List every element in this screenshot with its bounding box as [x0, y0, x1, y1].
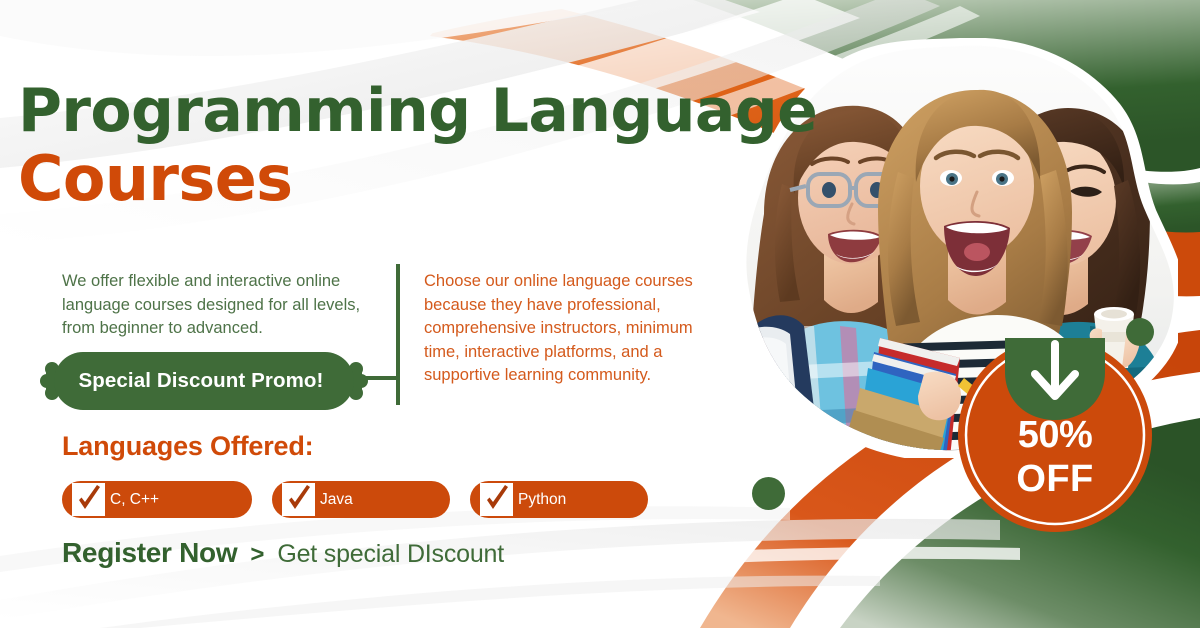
language-chip-label: Python	[518, 491, 566, 509]
description-right: Choose our online language courses becau…	[424, 270, 724, 388]
languages-offered-heading: Languages Offered:	[62, 431, 313, 462]
check-icon	[282, 483, 315, 516]
check-icon	[72, 483, 105, 516]
headline-line-1: Programming Language	[18, 82, 817, 141]
chevron-right-icon: >	[250, 541, 264, 569]
promo-badge-label: Special Discount Promo!	[38, 352, 370, 410]
description-left: We offer flexible and interactive online…	[62, 270, 382, 341]
headline-line-2: Courses	[18, 149, 817, 210]
promo-banner: Programming Language Courses We offer fl…	[0, 0, 1200, 628]
language-chip-label: C, C++	[110, 491, 159, 509]
language-chip-label: Java	[320, 491, 353, 509]
language-chip-python[interactable]: Python	[470, 481, 648, 518]
special-discount-promo-badge[interactable]: Special Discount Promo!	[38, 352, 370, 410]
language-chip-c-cpp[interactable]: C, C++	[62, 481, 252, 518]
check-icon	[480, 483, 513, 516]
language-chip-java[interactable]: Java	[272, 481, 450, 518]
get-special-discount-label: Get special DIscount	[277, 540, 504, 569]
discount-badge[interactable]: 50% OFF	[955, 338, 1155, 533]
green-dot-middle	[752, 477, 785, 510]
green-dot-right	[1126, 318, 1154, 346]
register-now-button[interactable]: Register Now	[62, 537, 237, 569]
page-title: Programming Language Courses	[18, 82, 817, 210]
languages-chip-list: C, C++ Java Python	[62, 481, 648, 518]
discount-badge-shape	[955, 338, 1155, 533]
cta-register-line[interactable]: Register Now > Get special DIscount	[62, 537, 504, 569]
